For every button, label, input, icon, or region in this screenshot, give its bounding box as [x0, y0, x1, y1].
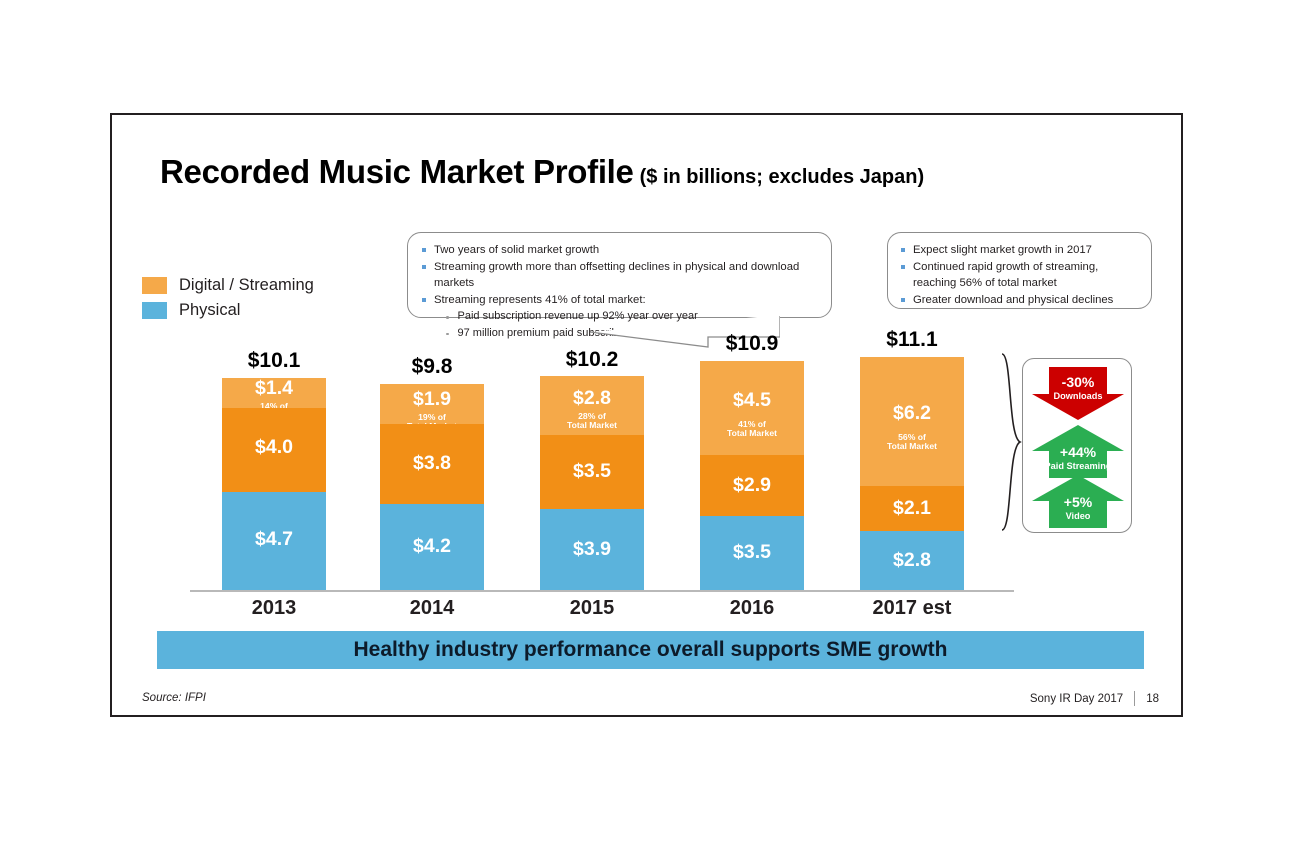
footer-right: Sony IR Day 2017 18 — [1030, 691, 1159, 706]
badge-video: +5% Video — [1032, 475, 1124, 528]
footer-event-label: Sony IR Day 2017 — [1030, 693, 1123, 705]
callout-left: Two years of solid market growth Streami… — [407, 232, 832, 318]
page-number: 18 — [1146, 693, 1159, 705]
bar-segment-download-2017-value: $2.1 — [860, 499, 964, 519]
bullet-square-icon — [901, 265, 905, 269]
bar-segment-streaming-2015-note: 28% of Total Market — [540, 412, 644, 431]
bar-segment-download-2014-value: $3.8 — [380, 454, 484, 474]
x-axis-label-2016: 2016 — [682, 597, 822, 620]
bar-segment-streaming-2013-note: 14% of Total Market — [222, 402, 326, 421]
legend-swatch-digital-streaming — [142, 277, 167, 294]
bar-segment-download-2016: $2.9 — [700, 455, 804, 516]
badge-paid-streaming-text: +44% Paid Streaming — [1032, 445, 1124, 471]
x-axis-label-2017: 2017 est — [842, 597, 982, 620]
callout-left-bullet-3: Streaming represents 41% of total market… — [422, 292, 819, 308]
callout-right-bullet-3-text: Greater download and physical declines — [913, 292, 1113, 308]
bar-segment-download-2017: $2.1 — [860, 486, 964, 531]
bar-segment-streaming-2014: $1.9 19% of Total Market — [380, 384, 484, 424]
bar-total-2017: $11.1 — [860, 328, 964, 352]
callout-left-subbullet-2-text: 97 million premium paid subscribers — [458, 326, 633, 342]
bar-segment-streaming-2013: $1.4 14% of Total Market — [222, 378, 326, 408]
legend-item-digital-streaming: Digital / Streaming — [142, 276, 314, 295]
source-note: Source: IFPI — [142, 692, 206, 704]
bullet-square-icon — [422, 298, 426, 302]
bar-segment-physical-2016-value: $3.5 — [700, 543, 804, 563]
callout-right-bullet-3: Greater download and physical declines — [901, 292, 1141, 308]
callout-left-subbullet-1-text: Paid subscription revenue up 92% year ov… — [458, 309, 698, 325]
badge-downloads-pct: -30% — [1032, 375, 1124, 389]
bar-segment-streaming-2017-value: $6.2 — [860, 404, 964, 424]
title-subtitle: ($ in billions; excludes Japan) — [640, 166, 925, 188]
legend-item-physical: Physical — [142, 301, 314, 320]
page-title: Recorded Music Market Profile($ in billi… — [160, 153, 924, 191]
badge-downloads-caption: Downloads — [1032, 392, 1124, 401]
bullet-square-icon — [901, 298, 905, 302]
bar-segment-physical-2013-value: $4.7 — [222, 530, 326, 550]
bar-segment-physical-2016: $3.5 — [700, 516, 804, 590]
bar-total-2014: $9.8 — [380, 355, 484, 379]
bar-segment-download-2016-value: $2.9 — [700, 476, 804, 496]
x-axis-label-2013: 2013 — [204, 597, 344, 620]
footer-divider — [1134, 691, 1135, 706]
callout-left-bullet-2-text: Streaming growth more than offsetting de… — [434, 259, 819, 291]
brace-icon — [1000, 352, 1022, 532]
summary-banner: Healthy industry performance overall sup… — [157, 631, 1144, 669]
bar-segment-physical-2014: $4.2 — [380, 504, 484, 590]
callout-right-bullet-2-text: Continued rapid growth of streaming, rea… — [913, 259, 1141, 291]
bar-segment-physical-2014-value: $4.2 — [380, 537, 484, 557]
bar-segment-streaming-2013-value: $1.4 — [222, 379, 326, 399]
callout-right: Expect slight market growth in 2017 Cont… — [887, 232, 1152, 309]
callout-right-bullet-2: Continued rapid growth of streaming, rea… — [901, 259, 1141, 291]
bar-segment-physical-2015: $3.9 — [540, 509, 644, 590]
bar-segment-streaming-2015: $2.8 28% of Total Market — [540, 376, 644, 435]
bar-segment-streaming-2014-value: $1.9 — [380, 390, 484, 410]
bar-segment-download-2015: $3.5 — [540, 435, 644, 509]
bullet-dot-icon — [446, 316, 449, 319]
legend-label-digital-streaming: Digital / Streaming — [179, 276, 314, 295]
bar-segment-physical-2017: $2.8 — [860, 531, 964, 590]
badge-video-text: +5% Video — [1032, 495, 1124, 521]
bar-segment-download-2013: $4.0 — [222, 408, 326, 492]
bar-total-2015: $10.2 — [540, 348, 644, 372]
callout-left-bullet-1-text: Two years of solid market growth — [434, 242, 599, 258]
callout-left-subbullet-2: 97 million premium paid subscribers — [446, 326, 819, 342]
bar-segment-streaming-2016: $4.5 41% of Total Market — [700, 361, 804, 455]
badge-paid-streaming-pct: +44% — [1032, 445, 1124, 459]
badge-paid-streaming: +44% Paid Streaming — [1032, 425, 1124, 478]
bar-segment-streaming-2017-note: 56% of Total Market — [860, 433, 964, 452]
x-axis-label-2015: 2015 — [522, 597, 662, 620]
badge-video-caption: Video — [1032, 512, 1124, 521]
bar-group-2016: $4.5 41% of Total Market $2.9 $3.5 — [700, 361, 804, 590]
legend-label-physical: Physical — [179, 301, 240, 320]
bar-segment-streaming-2015-value: $2.8 — [540, 389, 644, 409]
callout-right-bullet-1-text: Expect slight market growth in 2017 — [913, 242, 1092, 258]
callout-left-bullet-1: Two years of solid market growth — [422, 242, 819, 258]
title-main: Recorded Music Market Profile — [160, 153, 634, 190]
x-axis-label-2014: 2014 — [362, 597, 502, 620]
chart-legend: Digital / Streaming Physical — [142, 276, 314, 326]
legend-swatch-physical — [142, 302, 167, 319]
bar-segment-physical-2015-value: $3.9 — [540, 540, 644, 560]
bar-total-2013: $10.1 — [222, 349, 326, 373]
bar-segment-download-2014: $3.8 — [380, 424, 484, 504]
bar-segment-streaming-2014-note: 19% of Total Market — [380, 413, 484, 432]
bar-segment-streaming-2017: $6.2 56% of Total Market — [860, 357, 964, 486]
badge-paid-streaming-caption: Paid Streaming — [1032, 462, 1124, 471]
growth-badges-panel: -30% Downloads +44% Paid Streaming +5% V… — [1022, 358, 1132, 533]
bar-segment-download-2015-value: $3.5 — [540, 462, 644, 482]
bar-segment-physical-2017-value: $2.8 — [860, 551, 964, 571]
bar-group-2015: $2.8 28% of Total Market $3.5 $3.9 — [540, 376, 644, 590]
bullet-dot-icon — [446, 333, 449, 336]
chart-baseline-axis — [190, 590, 1014, 592]
bar-group-2013: $1.4 14% of Total Market $4.0 $4.7 — [222, 378, 326, 590]
bullet-square-icon — [422, 248, 426, 252]
bar-segment-physical-2013: $4.7 — [222, 492, 326, 590]
callout-left-subbullet-1: Paid subscription revenue up 92% year ov… — [446, 309, 819, 325]
callout-left-bullet-3-text: Streaming represents 41% of total market… — [434, 292, 646, 308]
bar-group-2017: $6.2 56% of Total Market $2.1 $2.8 — [860, 357, 964, 590]
bullet-square-icon — [422, 265, 426, 269]
badge-downloads-text: -30% Downloads — [1032, 375, 1124, 401]
badge-downloads: -30% Downloads — [1032, 367, 1124, 420]
bar-segment-download-2013-value: $4.0 — [222, 438, 326, 458]
callout-left-bullet-2: Streaming growth more than offsetting de… — [422, 259, 819, 291]
summary-banner-text: Healthy industry performance overall sup… — [354, 638, 948, 662]
slide-frame: Recorded Music Market Profile($ in billi… — [110, 113, 1183, 717]
badge-video-pct: +5% — [1032, 495, 1124, 509]
bar-segment-streaming-2016-value: $4.5 — [700, 391, 804, 411]
bar-segment-streaming-2016-note: 41% of Total Market — [700, 420, 804, 439]
bullet-square-icon — [901, 248, 905, 252]
callout-right-bullet-1: Expect slight market growth in 2017 — [901, 242, 1141, 258]
bar-group-2014: $1.9 19% of Total Market $3.8 $4.2 — [380, 384, 484, 590]
